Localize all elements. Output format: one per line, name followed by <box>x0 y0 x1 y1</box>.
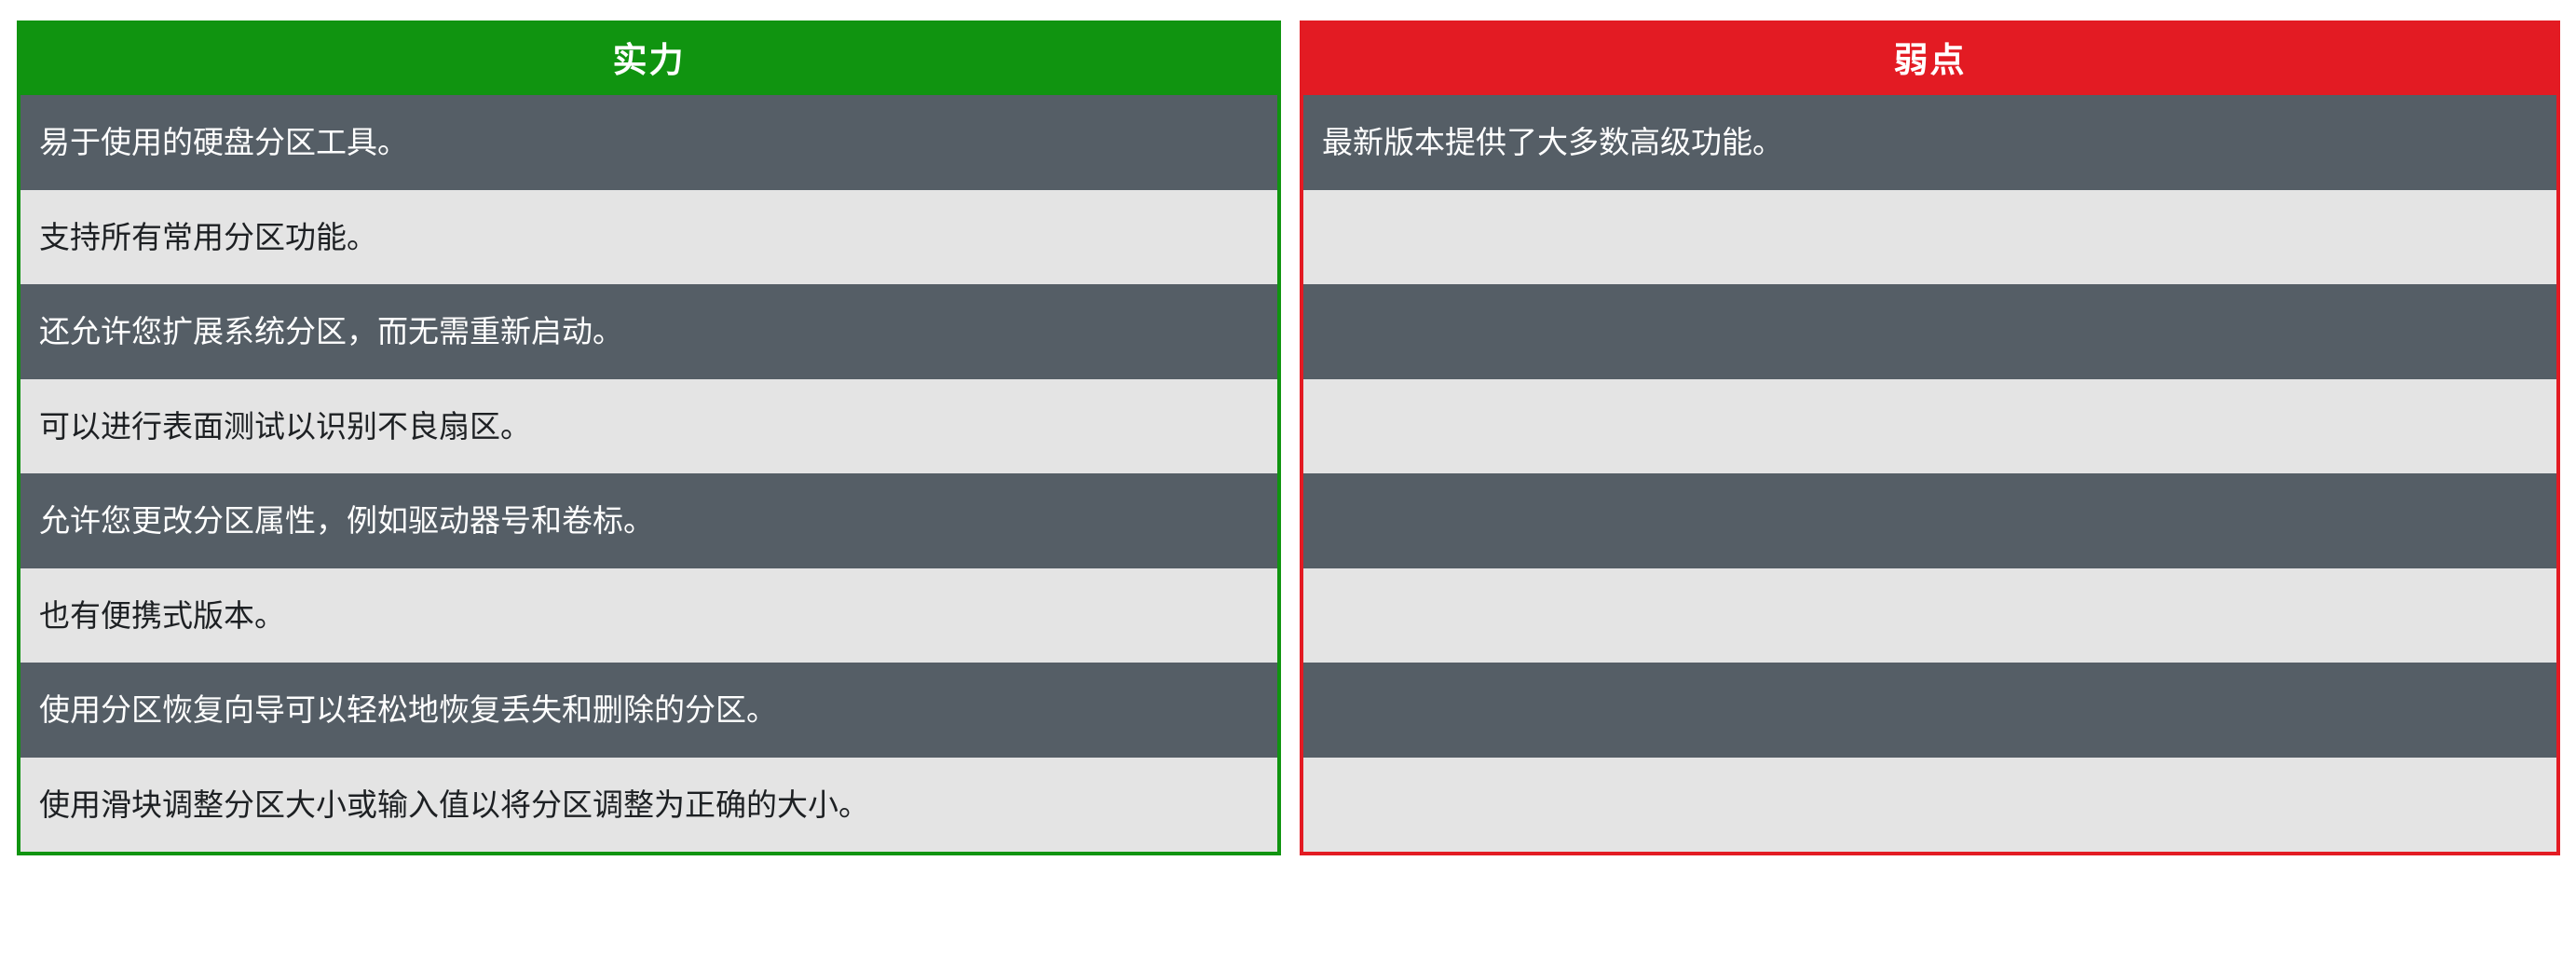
swot-comparison-page: 实力 易于使用的硬盘分区工具。 支持所有常用分区功能。 还允许您扩展系统分区，而… <box>0 0 2576 957</box>
row-text: 最新版本提供了大多数高级功能。 <box>1322 123 1783 161</box>
strengths-table: 实力 易于使用的硬盘分区工具。 支持所有常用分区功能。 还允许您扩展系统分区，而… <box>17 21 1281 855</box>
table-row: 最新版本提供了大多数高级功能。 <box>1303 95 2556 190</box>
table-row: 也有便携式版本。 <box>20 568 1277 663</box>
row-text: 支持所有常用分区功能。 <box>39 218 377 256</box>
table-row <box>1303 190 2556 285</box>
strengths-table-body: 易于使用的硬盘分区工具。 支持所有常用分区功能。 还允许您扩展系统分区，而无需重… <box>20 95 1277 852</box>
table-row: 使用滑块调整分区大小或输入值以将分区调整为正确的大小。 <box>20 758 1277 853</box>
table-row: 易于使用的硬盘分区工具。 <box>20 95 1277 190</box>
row-text: 还允许您扩展系统分区，而无需重新启动。 <box>39 312 623 350</box>
swot-tables-container: 实力 易于使用的硬盘分区工具。 支持所有常用分区功能。 还允许您扩展系统分区，而… <box>17 21 2560 929</box>
weaknesses-table: 弱点 最新版本提供了大多数高级功能。 <box>1300 21 2560 855</box>
strengths-table-header: 实力 <box>20 24 1277 95</box>
row-text: 使用分区恢复向导可以轻松地恢复丢失和删除的分区。 <box>39 690 777 729</box>
row-text: 允许您更改分区属性，例如驱动器号和卷标。 <box>39 501 654 540</box>
row-text: 可以进行表面测试以识别不良扇区。 <box>39 407 531 445</box>
weaknesses-table-header: 弱点 <box>1303 24 2556 95</box>
table-row <box>1303 284 2556 379</box>
row-text: 易于使用的硬盘分区工具。 <box>39 123 408 161</box>
row-text: 使用滑块调整分区大小或输入值以将分区调整为正确的大小。 <box>39 786 869 824</box>
table-row: 支持所有常用分区功能。 <box>20 190 1277 285</box>
table-row <box>1303 663 2556 758</box>
weaknesses-table-body: 最新版本提供了大多数高级功能。 <box>1303 95 2556 852</box>
table-row: 还允许您扩展系统分区，而无需重新启动。 <box>20 284 1277 379</box>
table-row: 使用分区恢复向导可以轻松地恢复丢失和删除的分区。 <box>20 663 1277 758</box>
table-row <box>1303 379 2556 474</box>
table-row <box>1303 568 2556 663</box>
table-row: 允许您更改分区属性，例如驱动器号和卷标。 <box>20 473 1277 568</box>
table-row <box>1303 473 2556 568</box>
table-row <box>1303 758 2556 853</box>
table-row: 可以进行表面测试以识别不良扇区。 <box>20 379 1277 474</box>
row-text: 也有便携式版本。 <box>39 596 285 635</box>
